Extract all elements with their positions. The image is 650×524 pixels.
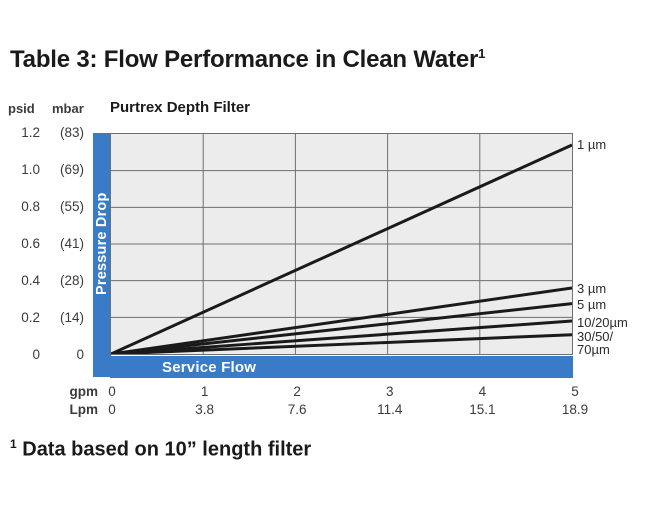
- chart-heading: Purtrex Depth Filter: [110, 99, 250, 116]
- page-title-text: Table 3: Flow Performance in Clean Water: [10, 46, 478, 73]
- x-tick-lpm: 7.6: [267, 402, 327, 417]
- y-tick-mbar: (14): [44, 310, 84, 326]
- y-tick-mbar: 0: [44, 347, 84, 363]
- plot-area: [110, 133, 573, 355]
- y-tick-psid: 0: [0, 347, 40, 363]
- y-axis-primary-unit-header: psid: [8, 101, 35, 116]
- series-label-line: 30/50/: [577, 330, 613, 343]
- x-axis-title-bar: Service Flow: [110, 356, 573, 378]
- series-label: 3 µm: [577, 282, 606, 295]
- footnote-text: Data based on 10” length filter: [17, 439, 312, 461]
- y-tick-mbar: (83): [44, 125, 84, 141]
- horizontal-gridlines: [111, 171, 572, 318]
- x-tick-gpm: 0: [82, 384, 142, 399]
- x-tick-lpm: 15.1: [452, 402, 512, 417]
- footnote: 1 Data based on 10” length filter: [10, 437, 311, 462]
- y-tick-mbar: (28): [44, 273, 84, 289]
- series-label: 1 µm: [577, 138, 606, 151]
- y-axis-secondary-unit-header: mbar: [52, 101, 84, 116]
- x-tick-lpm: 11.4: [360, 402, 420, 417]
- x-tick-lpm: 18.9: [545, 402, 605, 417]
- y-tick-mbar: (69): [44, 162, 84, 178]
- y-tick-psid: 0.8: [0, 199, 40, 215]
- x-tick-gpm: 2: [267, 384, 327, 399]
- y-tick-mbar: (41): [44, 236, 84, 252]
- page-title: Table 3: Flow Performance in Clean Water…: [10, 46, 485, 74]
- series-label: 10/20µm: [577, 316, 628, 329]
- series-line: [111, 304, 572, 354]
- y-tick-psid: 1.2: [0, 125, 40, 141]
- y-tick-psid: 0.4: [0, 273, 40, 289]
- plot-svg: [111, 134, 572, 354]
- y-tick-psid: 0.2: [0, 310, 40, 326]
- y-tick-psid: 1.0: [0, 162, 40, 178]
- y-tick-psid: 0.6: [0, 236, 40, 252]
- x-tick-gpm: 1: [175, 384, 235, 399]
- x-tick-gpm: 5: [545, 384, 605, 399]
- x-tick-lpm: 3.8: [175, 402, 235, 417]
- series-label: 30/50/70µm: [577, 330, 613, 356]
- y-tick-mbar: (55): [44, 199, 84, 215]
- x-axis-title-label: Service Flow: [162, 359, 256, 376]
- x-tick-gpm: 4: [452, 384, 512, 399]
- footnote-superscript: 1: [10, 437, 17, 451]
- series-label: 5 µm: [577, 298, 606, 311]
- series-line: [111, 145, 572, 354]
- series-label-line: 70µm: [577, 343, 613, 356]
- series-lines: [111, 145, 572, 354]
- x-tick-gpm: 3: [360, 384, 420, 399]
- x-tick-lpm: 0: [82, 402, 142, 417]
- y-axis-title-label: Pressure Drop: [93, 133, 111, 355]
- page-title-superscript: 1: [478, 46, 485, 61]
